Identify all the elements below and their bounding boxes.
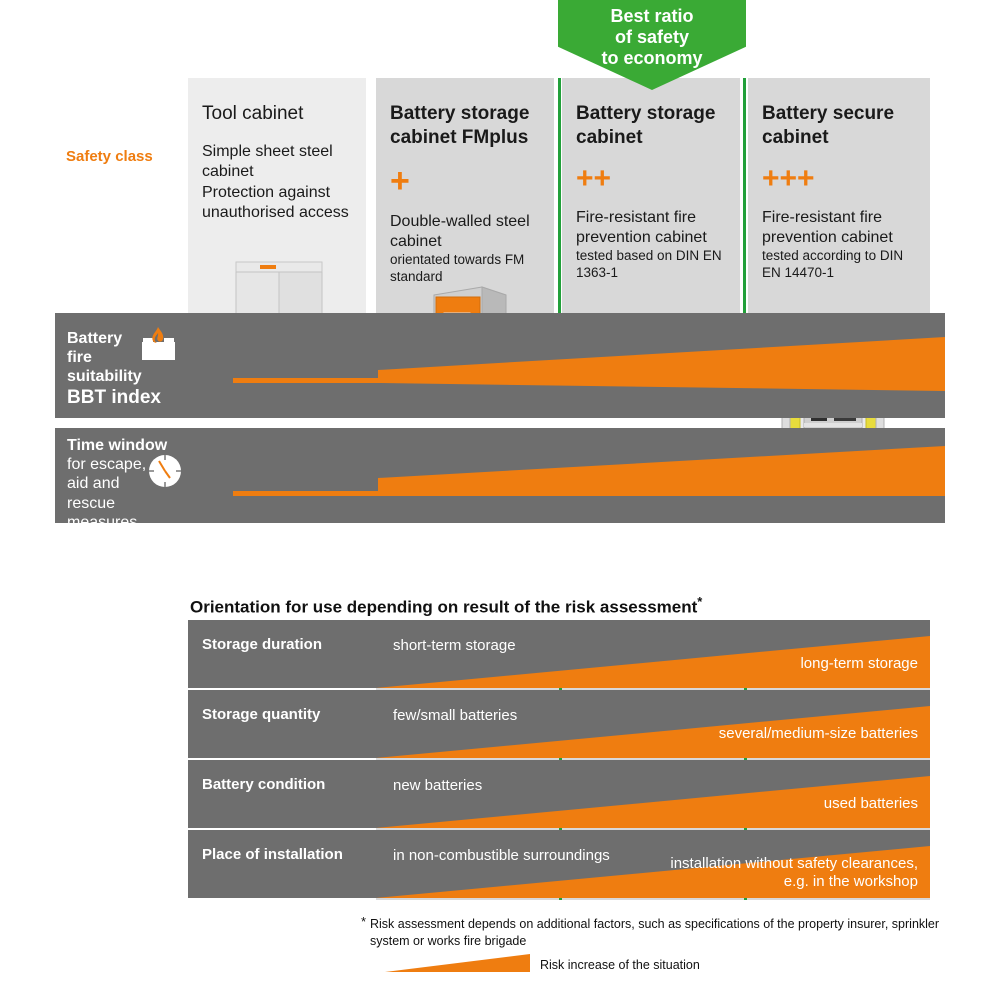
column-title: Battery secure cabinet [762, 102, 916, 150]
column-description: Fire-resistant fire prevention cabinet [576, 208, 726, 249]
column-plus-rating: +++ [762, 164, 916, 194]
column-title: Tool cabinet [202, 102, 352, 126]
time-window-band: Time window for escape, aid and rescue m… [55, 428, 945, 523]
footnote: * Risk assessment depends on additional … [370, 916, 940, 950]
column-title: Battery storage cabinet FMplus [390, 102, 540, 150]
bbt-line-2: fire [67, 348, 161, 367]
column-title: Battery storage cabinet [576, 102, 726, 150]
bbt-line-3: suitability [67, 367, 161, 386]
time-window-line-1: Time window [67, 436, 167, 455]
table-heading-marker: * [697, 594, 702, 609]
footnote-marker: * [361, 913, 366, 931]
row-orange-wedge [188, 620, 930, 688]
risk-increase-legend-label: Risk increase of the situation [540, 958, 700, 972]
row-left-value: short-term storage [393, 637, 516, 654]
row-right-value: long-term storage [800, 655, 918, 673]
best-ratio-banner: Best ratio of safety to economy [558, 0, 746, 90]
time-window-line-5: measures [67, 513, 167, 523]
banner-line-1: Best ratio [558, 6, 746, 27]
banner-line-2: of safety [558, 27, 746, 48]
column-subtext: tested based on DIN EN 1363-1 [576, 248, 726, 282]
time-window-orange-wedge [55, 428, 945, 523]
time-window-line-2: for escape, [67, 455, 167, 474]
time-window-line-3: aid and [67, 474, 167, 493]
table-row[interactable]: Storage duration short-term storage long… [188, 620, 930, 688]
table-row[interactable]: Storage quantity few/small batteries sev… [188, 690, 930, 758]
column-plus-rating: + [390, 164, 540, 198]
table-heading: Orientation for use depending on result … [190, 594, 702, 618]
column-plus-rating: ++ [576, 164, 726, 194]
row-right-value: used batteries [824, 795, 918, 813]
banner-line-3: to economy [558, 48, 746, 69]
row-left-value: new batteries [393, 777, 482, 794]
table-row[interactable]: Battery condition new batteries used bat… [188, 760, 930, 828]
safety-class-label: Safety class [66, 148, 153, 165]
column-description: Simple sheet steel cabinet Protection ag… [202, 142, 352, 224]
row-label: Place of installation [202, 846, 343, 863]
column-subtext: orientated towards FM standard [390, 252, 540, 286]
row-label: Storage quantity [202, 706, 320, 723]
column-subtext: tested according to DIN EN 14470-1 [762, 248, 916, 282]
table-heading-text: Orientation for use depending on result … [190, 598, 697, 617]
bbt-index-band: Battery fire suitability BBT index [55, 313, 945, 418]
column-description: Fire-resistant fire prevention cabinet [762, 208, 916, 249]
bbt-line-1: Battery [67, 329, 161, 348]
bbt-index-text: BBT index [67, 387, 161, 410]
row-left-value: in non-combustible surroundings [393, 847, 610, 864]
bbt-orange-wedge [55, 313, 945, 418]
footnote-text: Risk assessment depends on additional fa… [370, 917, 939, 948]
row-orange-wedge [188, 690, 930, 758]
row-right-value: several/medium-size batteries [719, 725, 918, 743]
time-window-label: Time window for escape, aid and rescue m… [67, 436, 167, 523]
risk-increase-legend-wedge [385, 952, 535, 974]
row-label: Storage duration [202, 636, 322, 653]
row-right-value: installation without safety clearances, … [670, 855, 918, 891]
row-orange-wedge [188, 760, 930, 828]
row-left-value: few/small batteries [393, 707, 517, 724]
bbt-index-label: Battery fire suitability BBT index [67, 329, 161, 409]
row-label: Battery condition [202, 776, 325, 793]
time-window-line-4: rescue [67, 494, 167, 513]
column-description: Double-walled steel cabinet [390, 212, 540, 253]
table-row[interactable]: Place of installation in non-combustible… [188, 830, 930, 898]
